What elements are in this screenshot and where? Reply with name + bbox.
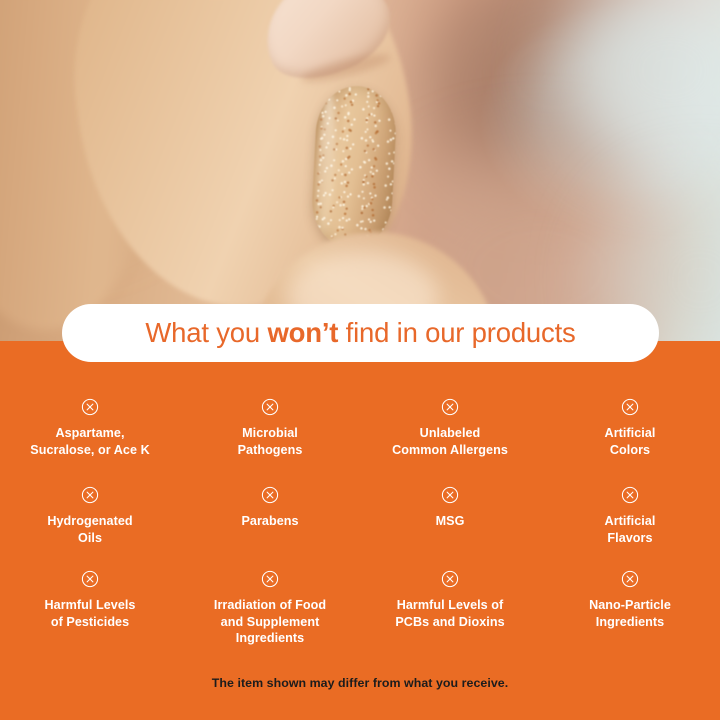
background-blur-blob (560, 0, 720, 170)
grid-cell: Artificial Colors (540, 386, 720, 474)
circle-x-icon (441, 486, 459, 504)
grid-cell: Nano-Particle Ingredients (540, 558, 720, 644)
grid-cell-label: Harmful Levels of Pesticides (45, 597, 136, 630)
circle-x-icon (441, 398, 459, 416)
background-blur-blob (430, 0, 680, 190)
grid-cell: Microbial Pathogens (180, 386, 360, 474)
grid-cell: MSG (360, 474, 540, 558)
grid-cell: Artificial Flavors (540, 474, 720, 558)
disclaimer-text: The item shown may differ from what you … (0, 676, 720, 690)
circle-x-icon (441, 570, 459, 588)
circle-x-icon (81, 486, 99, 504)
grid-cell-label: Harmful Levels of PCBs and Dioxins (395, 597, 504, 630)
grid-cell-label: Artificial Colors (605, 425, 656, 458)
grid-cell-label: MSG (436, 513, 465, 530)
grid-cell-label: Nano-Particle Ingredients (589, 597, 671, 630)
circle-x-icon (81, 570, 99, 588)
hero-photo (0, 0, 720, 341)
grid-cell-label: Microbial Pathogens (238, 425, 303, 458)
thumbnail (248, 0, 404, 96)
page-title: What you won’t find in our products (145, 319, 575, 347)
circle-x-icon (621, 398, 639, 416)
grid-cell-label: Unlabeled Common Allergens (392, 425, 508, 458)
circle-x-icon (621, 486, 639, 504)
grid-cell-label: Parabens (241, 513, 298, 530)
circle-x-icon (621, 570, 639, 588)
headline-pill: What you won’t find in our products (62, 304, 659, 362)
headline-emphasis: won’t (267, 317, 338, 348)
circle-x-icon (81, 398, 99, 416)
grid-cell: Hydrogenated Oils (0, 474, 180, 558)
supplement-tablet (310, 84, 398, 250)
grid-cell: Harmful Levels of PCBs and Dioxins (360, 558, 540, 644)
grid-cell-label: Hydrogenated Oils (47, 513, 132, 546)
grid-cell-label: Irradiation of Food and Supplement Ingre… (214, 597, 326, 647)
product-claims-infographic: What you won’t find in our products Aspa… (0, 0, 720, 720)
grid-cell-label: Aspartame, Sucralose, or Ace K (30, 425, 149, 458)
background-blur-blob (0, 0, 170, 230)
circle-x-icon (261, 570, 279, 588)
grid-cell: Unlabeled Common Allergens (360, 386, 540, 474)
headline-text-after: find in our products (338, 317, 575, 348)
grid-cell: Irradiation of Food and Supplement Ingre… (180, 558, 360, 644)
grid-cell: Parabens (180, 474, 360, 558)
circle-x-icon (261, 398, 279, 416)
grid-cell: Aspartame, Sucralose, or Ace K (0, 386, 180, 474)
grid-cell: Harmful Levels of Pesticides (0, 558, 180, 644)
index-finger (0, 0, 160, 330)
excluded-ingredients-grid: Aspartame, Sucralose, or Ace K Microbial… (0, 386, 720, 644)
headline-text-before: What you (145, 317, 267, 348)
circle-x-icon (261, 486, 279, 504)
thumb-crease (299, 49, 392, 87)
grid-cell-label: Artificial Flavors (605, 513, 656, 546)
